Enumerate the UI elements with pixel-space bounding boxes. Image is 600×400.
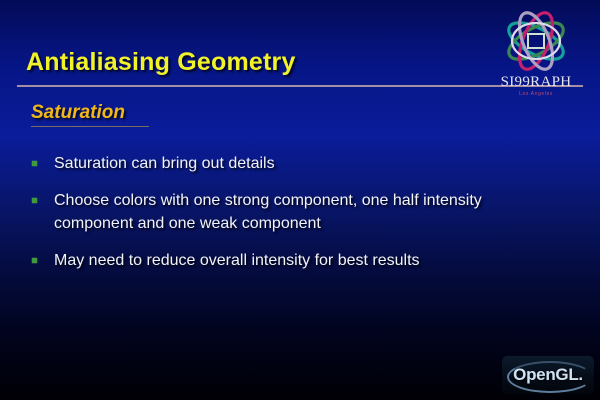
siggraph-wordmark: SI99RAPH [480, 74, 592, 91]
slide-subtitle: Saturation [31, 102, 125, 124]
bullet-marker-icon [32, 161, 37, 166]
bullet-text: May need to reduce overall intensity for… [54, 249, 562, 272]
siggraph-logo: SI99RAPH Los Angeles [480, 6, 592, 104]
opengl-logo: OpenGL. [502, 356, 594, 394]
bullet-marker-icon [32, 258, 37, 263]
slide-title: Antialiasing Geometry [26, 48, 296, 77]
list-item: Choose colors with one strong component,… [32, 189, 562, 235]
siggraph-city-label: Los Angeles [480, 91, 592, 97]
presentation-slide: Antialiasing Geometry Saturation Saturat… [0, 0, 600, 400]
list-item: May need to reduce overall intensity for… [32, 249, 562, 272]
list-item: Saturation can bring out details [32, 152, 562, 175]
bullet-text: Choose colors with one strong component,… [54, 189, 562, 235]
bullet-text: Saturation can bring out details [54, 152, 562, 175]
bullet-list: Saturation can bring out details Choose … [32, 152, 562, 286]
subtitle-underline [31, 126, 149, 127]
opengl-wordmark: OpenGL. [502, 356, 594, 394]
bullet-marker-icon [32, 198, 37, 203]
siggraph-rings-icon [488, 6, 584, 76]
